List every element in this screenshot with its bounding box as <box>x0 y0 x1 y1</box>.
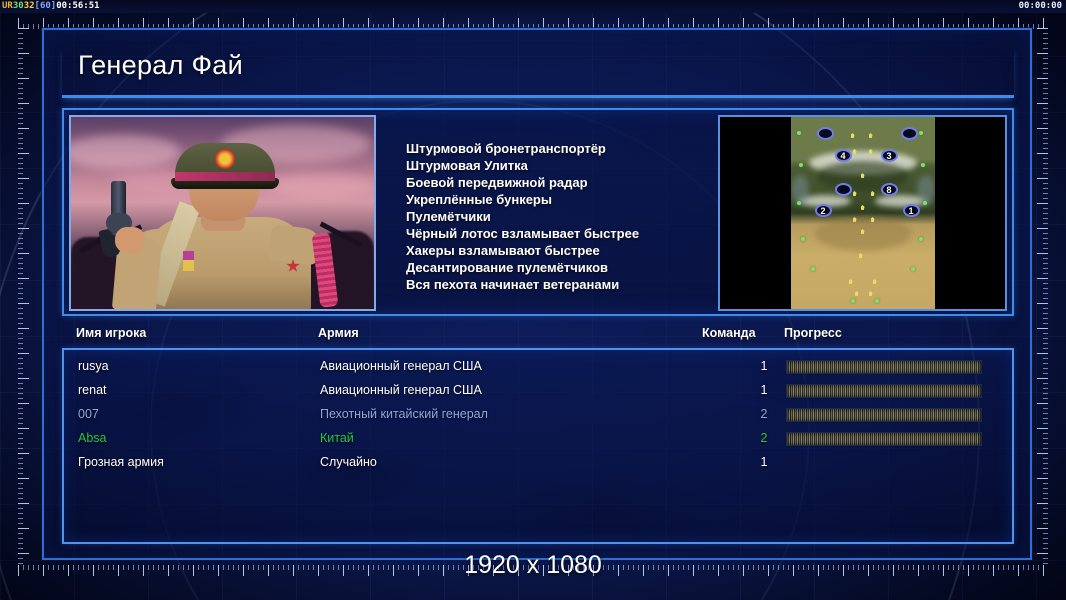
table-row[interactable]: Грозная армияСлучайно1 <box>64 452 1012 476</box>
minimap-oil-derrick <box>871 191 875 196</box>
player-name: Грозная армия <box>78 455 164 469</box>
table-row[interactable]: AbsaКитай2 <box>64 428 1012 452</box>
minimap-oil-derrick <box>869 291 873 296</box>
table-row[interactable]: renatАвиационный генерал США1 <box>64 380 1012 404</box>
minimap-start-position: 4 <box>835 149 852 162</box>
ability-item: Боевой передвижной радар <box>406 174 686 191</box>
status-tag: UR <box>2 1 13 11</box>
minimap-oil-derrick <box>851 133 855 138</box>
ability-item: Штурмовой бронетранспортёр <box>406 140 686 157</box>
minimap-resource-node <box>799 163 803 167</box>
minimap-start-position: 8 <box>881 183 898 196</box>
status-value-1: 30 <box>13 1 24 11</box>
minimap-oil-derrick <box>853 149 857 154</box>
progress-bar <box>786 408 982 422</box>
status-value-3: [60] <box>35 1 57 11</box>
status-value-2: 32 <box>24 1 35 11</box>
player-army[interactable]: Случайно <box>320 455 377 469</box>
player-name: rusya <box>78 359 109 373</box>
progress-bar <box>786 432 982 446</box>
minimap-frame[interactable]: 43821 <box>718 115 1007 311</box>
player-table-headers: Имя игрока Армия Команда Прогресс <box>62 326 1014 348</box>
player-army[interactable]: Авиационный генерал США <box>320 359 482 373</box>
player-team[interactable]: 1 <box>750 383 778 397</box>
title-band: Генерал Фай <box>62 46 1014 98</box>
general-portrait-image <box>71 117 374 309</box>
minimap-oil-derrick <box>873 279 877 284</box>
ability-item: Укреплённые бункеры <box>406 191 686 208</box>
minimap-oil-derrick <box>869 133 873 138</box>
resolution-label: 1920 x 1080 <box>0 551 1066 580</box>
minimap-resource-node <box>811 267 815 271</box>
ability-item: Десантирование пулемётчиков <box>406 259 686 276</box>
minimap-start-position: 3 <box>881 149 898 162</box>
minimap-resource-node <box>911 267 915 271</box>
top-status-bar: UR3032[60]00:56:51 00:00:00 <box>0 0 1066 13</box>
player-progress-cell <box>786 408 982 422</box>
general-abilities-list: Штурмовой бронетранспортёр Штурмовая Ули… <box>406 140 686 293</box>
general-info-panel: Штурмовой бронетранспортёр Штурмовая Ули… <box>62 108 1014 316</box>
table-row[interactable]: 007Пехотный китайский генерал2 <box>64 404 1012 428</box>
minimap-resource-node <box>923 201 927 205</box>
player-army[interactable]: Пехотный китайский генерал <box>320 407 488 421</box>
player-name: Absa <box>78 431 107 445</box>
minimap-start-position-empty <box>817 127 834 140</box>
ability-item: Хакеры взламывают быстрее <box>406 242 686 259</box>
minimap-oil-derrick <box>861 205 865 210</box>
minimap-oil-derrick <box>855 291 859 296</box>
player-progress-cell <box>786 432 982 446</box>
progress-bar <box>786 360 982 374</box>
ability-item: Чёрный лотос взламывает быстрее <box>406 225 686 242</box>
main-panel: Генерал Фай <box>42 28 1032 560</box>
ability-item: Штурмовая Улитка <box>406 157 686 174</box>
player-team[interactable]: 2 <box>750 431 778 445</box>
player-progress-cell <box>786 360 982 374</box>
table-row[interactable]: rusyaАвиационный генерал США1 <box>64 356 1012 380</box>
minimap-resource-node <box>797 131 801 135</box>
minimap-start-position: 1 <box>903 204 920 217</box>
player-name: 007 <box>78 407 99 421</box>
minimap-resource-node <box>875 299 879 303</box>
minimap-start-position-empty <box>835 183 852 196</box>
player-army[interactable]: Китай <box>320 431 354 445</box>
ability-item: Вся пехота начинает ветеранами <box>406 276 686 293</box>
player-team[interactable]: 1 <box>750 359 778 373</box>
minimap-resource-node <box>921 163 925 167</box>
player-name: renat <box>78 383 107 397</box>
minimap-resource-node <box>919 131 923 135</box>
progress-bar <box>786 384 982 398</box>
column-header-progress: Прогресс <box>784 326 842 340</box>
player-table: rusyaАвиационный генерал США1renatАвиаци… <box>62 348 1014 544</box>
minimap-start-position: 2 <box>815 204 832 217</box>
status-left-group: UR3032[60]00:56:51 <box>2 0 100 13</box>
minimap-start-position-empty <box>901 127 918 140</box>
ability-item: Пулемётчики <box>406 208 686 225</box>
minimap-resource-node <box>797 201 801 205</box>
minimap-oil-derrick <box>859 253 863 258</box>
column-header-army: Армия <box>318 326 359 340</box>
general-portrait-frame <box>69 115 376 311</box>
column-header-name: Имя игрока <box>76 326 146 340</box>
player-progress-cell <box>786 384 982 398</box>
minimap-resource-node <box>919 237 923 241</box>
player-team[interactable]: 1 <box>750 455 778 469</box>
minimap-resource-node <box>851 299 855 303</box>
minimap-resource-node <box>801 237 805 241</box>
status-right-timer: 00:00:00 <box>1019 0 1062 13</box>
status-clock: 00:56:51 <box>56 1 99 11</box>
minimap-oil-derrick <box>853 191 857 196</box>
column-header-team: Команда <box>702 326 756 340</box>
minimap-image: 43821 <box>791 117 935 309</box>
player-team[interactable]: 2 <box>750 407 778 421</box>
minimap-oil-derrick <box>869 149 873 154</box>
player-army[interactable]: Авиационный генерал США <box>320 383 482 397</box>
page-title: Генерал Фай <box>78 50 243 81</box>
minimap-oil-derrick <box>849 279 853 284</box>
